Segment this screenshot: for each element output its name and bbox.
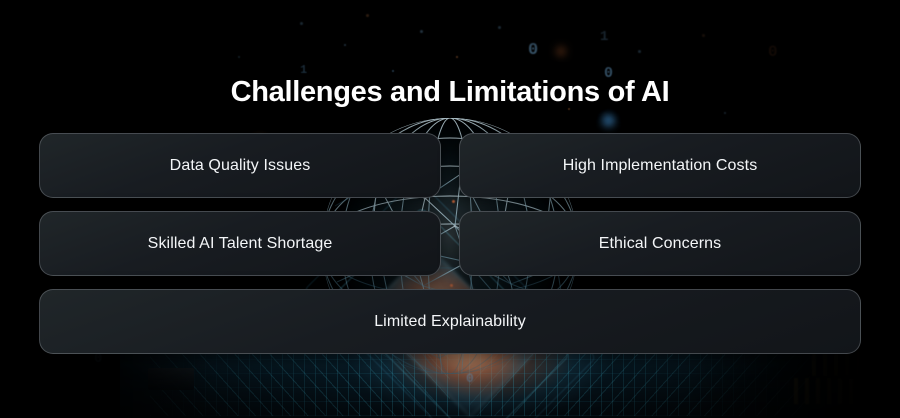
slide-canvas: 0 0 1 0 0 0 1 Challenges and Limitations… (0, 0, 900, 418)
card-label: High Implementation Costs (563, 157, 758, 175)
slide-content: Challenges and Limitations of AI Data Qu… (0, 0, 900, 418)
challenge-card-skilled-ai-talent-shortage[interactable]: Skilled AI Talent Shortage (39, 211, 441, 276)
challenge-card-limited-explainability[interactable]: Limited Explainability (39, 289, 861, 354)
page-title: Challenges and Limitations of AI (0, 76, 900, 109)
card-label: Limited Explainability (374, 313, 526, 331)
challenge-card-high-implementation-costs[interactable]: High Implementation Costs (459, 133, 861, 198)
card-label: Data Quality Issues (170, 157, 311, 175)
challenge-card-ethical-concerns[interactable]: Ethical Concerns (459, 211, 861, 276)
challenge-card-data-quality-issues[interactable]: Data Quality Issues (39, 133, 441, 198)
card-label: Skilled AI Talent Shortage (148, 235, 333, 253)
challenge-card-grid: Data Quality Issues High Implementation … (39, 133, 861, 354)
card-label: Ethical Concerns (599, 235, 722, 253)
